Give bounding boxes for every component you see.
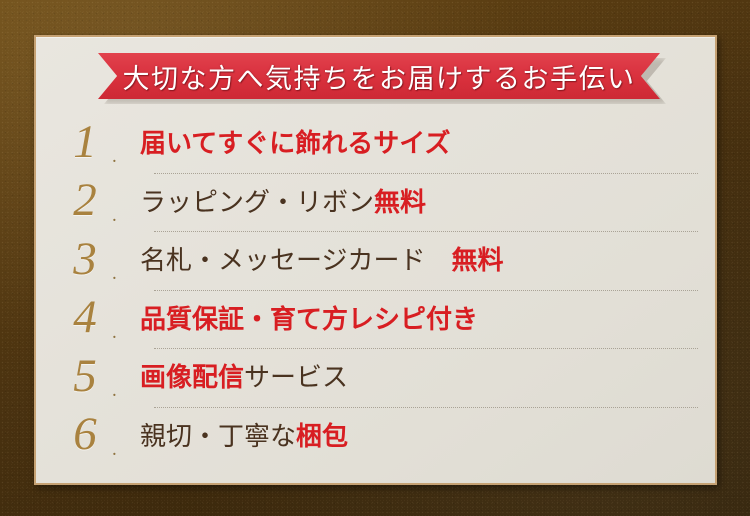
list-item: 2.ラッピング・リボン無料 xyxy=(36,174,717,233)
benefits-list: 1.届いてすぐに飾れるサイズ2.ラッピング・リボン無料3.名札・メッセージカード… xyxy=(36,115,717,466)
list-item-text-plain: ラッピング・リボン xyxy=(140,188,374,218)
list-item-number-dot: . xyxy=(112,322,132,344)
list-item: 1.届いてすぐに飾れるサイズ xyxy=(36,115,717,174)
ribbon-header: 大切な方へ気持ちをお届けするお手伝い xyxy=(98,53,660,107)
ribbon-title: 大切な方へ気持ちをお届けするお手伝い xyxy=(123,64,636,94)
list-item-text-highlight: 無料 xyxy=(374,188,426,218)
list-item-number: 2 xyxy=(54,177,116,224)
list-item-text-highlight: 届いてすぐに飾れるサイズ xyxy=(140,129,450,159)
list-item-text: 品質保証・育て方レシピ付き xyxy=(140,307,717,333)
list-item-number-dot: . xyxy=(112,380,132,402)
list-item-text-highlight: 品質保証・育て方レシピ付き xyxy=(140,305,478,335)
list-item-text: 名札・メッセージカード 無料 xyxy=(140,248,717,274)
content-card: 大切な方へ気持ちをお届けするお手伝い 1.届いてすぐに飾れるサイズ2.ラッピング… xyxy=(34,35,717,485)
list-item-text-plain: 名札・メッセージカード xyxy=(140,246,425,276)
ribbon-inner: 大切な方へ気持ちをお届けするお手伝い xyxy=(123,57,636,96)
ribbon-band: 大切な方へ気持ちをお届けするお手伝い xyxy=(98,53,660,99)
list-item-text-highlight: 無料 xyxy=(452,246,504,276)
list-item-text-plain xyxy=(425,246,451,276)
list-item-text-highlight: 梱包 xyxy=(296,422,348,452)
list-item-number: 1 xyxy=(54,119,116,166)
list-item-number: 5 xyxy=(54,353,116,400)
list-item: 4.品質保証・育て方レシピ付き xyxy=(36,291,717,350)
list-item-text-plain: サービス xyxy=(244,363,348,393)
list-item-number: 3 xyxy=(54,236,116,283)
list-item-text: 届いてすぐに飾れるサイズ xyxy=(140,131,717,157)
list-item-number-dot: . xyxy=(112,205,132,227)
list-item-text: 親切・丁寧な梱包 xyxy=(140,424,717,450)
list-item: 5.画像配信サービス xyxy=(36,349,717,408)
list-item-text: ラッピング・リボン無料 xyxy=(140,190,717,216)
list-item-text-highlight: 画像配信 xyxy=(140,363,244,393)
list-item: 3.名札・メッセージカード 無料 xyxy=(36,232,717,291)
list-item-number-dot: . xyxy=(112,263,132,285)
list-item-text-plain: 親切・丁寧な xyxy=(140,422,296,452)
list-item-number: 6 xyxy=(54,411,116,458)
list-item: 6.親切・丁寧な梱包 xyxy=(36,408,717,467)
promo-banner: 大切な方へ気持ちをお届けするお手伝い 1.届いてすぐに飾れるサイズ2.ラッピング… xyxy=(0,0,750,516)
list-item-text: 画像配信サービス xyxy=(140,365,717,391)
list-item-number: 4 xyxy=(54,294,116,341)
list-item-number-dot: . xyxy=(112,439,132,461)
list-item-number-dot: . xyxy=(112,146,132,168)
